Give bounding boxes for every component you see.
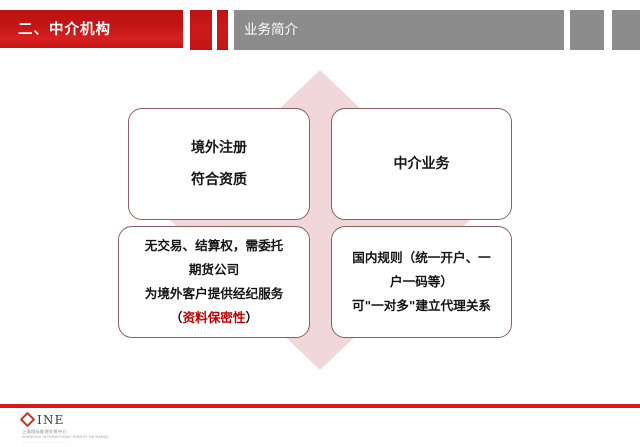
- header-gray-block-2: [570, 10, 604, 50]
- logo-sub-rule: — — — — — — — — — — — —: [22, 440, 162, 444]
- ine-logo: INE 上海国际能源交易中心 SHANGHAI INTERNATIONAL EN…: [22, 412, 162, 442]
- logo-chinese-name: 上海国际能源交易中心: [22, 429, 162, 435]
- node-bottom-right[interactable]: 国内规则（统一开户、一 户一码等） 可"一对多"建立代理关系: [331, 226, 512, 338]
- diagram-area: 境外注册 符合资质 中介业务 无交易、结算权，需委托 期货公司 为境外客户提供经…: [0, 60, 640, 390]
- logo-wordmark: INE: [37, 414, 65, 426]
- node-bottom-left-line-3: 为境外客户提供经纪服务: [145, 285, 284, 303]
- page-subtitle: 业务简介: [244, 10, 298, 50]
- paren-close: ）: [245, 310, 258, 325]
- node-bottom-left-line-1: 无交易、结算权，需委托: [145, 237, 284, 255]
- header-red-block-2: [190, 10, 212, 50]
- node-bottom-right-line-3: 可"一对多"建立代理关系: [352, 297, 491, 315]
- confidentiality-highlight: 资料保密性: [183, 310, 246, 325]
- node-bottom-left-line-2: 期货公司: [189, 261, 239, 279]
- node-bottom-right-line-2: 户一码等）: [390, 273, 453, 291]
- node-bottom-left-line-4: （资料保密性）: [170, 309, 258, 327]
- node-top-left-line-1: 境外注册: [191, 138, 247, 158]
- header-red-block-3: [217, 10, 228, 50]
- node-bottom-left[interactable]: 无交易、结算权，需委托 期货公司 为境外客户提供经纪服务 （资料保密性）: [118, 226, 310, 338]
- node-top-right[interactable]: 中介业务: [331, 108, 512, 220]
- footer-divider: [0, 404, 640, 408]
- slide-header: 二、中介机构 业务简介: [0, 10, 640, 50]
- node-bottom-right-line-1: 国内规则（统一开户、一: [352, 249, 491, 267]
- header-gray-block-3: [612, 10, 640, 50]
- logo-mark-row: INE: [22, 412, 162, 427]
- node-top-left[interactable]: 境外注册 符合资质: [128, 108, 310, 220]
- node-top-left-line-2: 符合资质: [191, 170, 247, 190]
- paren-open: （: [170, 310, 183, 325]
- slide-canvas: 二、中介机构 业务简介 境外注册 符合资质 中介业务 无交易、结算权，需委托 期…: [0, 0, 640, 447]
- node-top-right-line-1: 中介业务: [394, 154, 450, 174]
- page-title: 二、中介机构: [18, 10, 111, 50]
- diamond-icon: [20, 412, 36, 428]
